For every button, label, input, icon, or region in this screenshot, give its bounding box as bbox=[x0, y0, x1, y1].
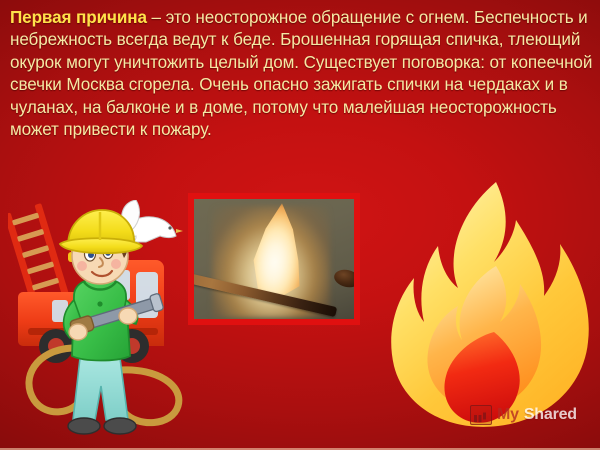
body-rest-text: – это неосторожное обращение с огнем. Бе… bbox=[10, 8, 592, 139]
watermark-shared: Shared bbox=[524, 406, 577, 424]
firefighter-boy-clipart bbox=[8, 200, 194, 448]
presentation-slide: Первая причина – это неосторожное обраще… bbox=[0, 0, 600, 450]
match-head bbox=[332, 267, 354, 289]
slide-body-text: Первая причина – это неосторожное обраще… bbox=[10, 7, 594, 141]
watermark-my: My bbox=[497, 406, 519, 424]
body-lead-phrase: Первая причина bbox=[10, 8, 147, 27]
burning-match-photo bbox=[188, 193, 360, 325]
presentation-icon bbox=[470, 405, 492, 425]
myshared-watermark: My Shared bbox=[470, 405, 577, 425]
